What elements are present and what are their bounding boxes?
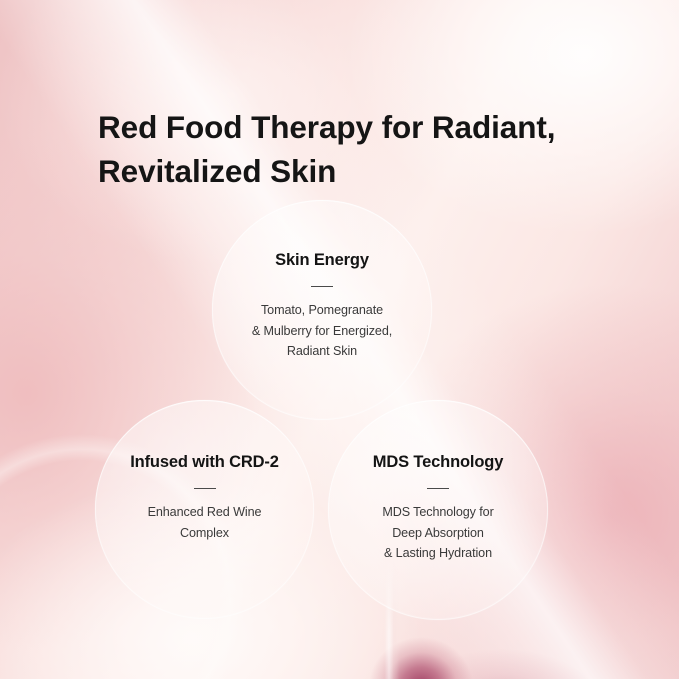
- feature-divider-mds: [427, 488, 449, 489]
- feature-divider-skin-energy: [311, 286, 333, 287]
- feature-body-crd2: Enhanced Red Wine Complex: [148, 502, 262, 543]
- page-title: Red Food Therapy for Radiant, Revitalize…: [98, 105, 598, 193]
- product-feature-poster: Red Food Therapy for Radiant, Revitalize…: [0, 0, 679, 679]
- feature-divider-crd2: [194, 488, 216, 489]
- feature-body-mds: MDS Technology for Deep Absorption & Las…: [382, 502, 493, 564]
- feature-circle-crd2: Infused with CRD-2 Enhanced Red Wine Com…: [95, 400, 314, 619]
- feature-title-crd2: Infused with CRD-2: [130, 452, 279, 472]
- feature-title-skin-energy: Skin Energy: [275, 250, 369, 270]
- feature-circle-mds: MDS Technology MDS Technology for Deep A…: [328, 400, 548, 620]
- feature-title-mds: MDS Technology: [373, 452, 504, 472]
- feature-circle-skin-energy: Skin Energy Tomato, Pomegranate & Mulber…: [212, 200, 432, 420]
- feature-body-skin-energy: Tomato, Pomegranate & Mulberry for Energ…: [252, 300, 392, 362]
